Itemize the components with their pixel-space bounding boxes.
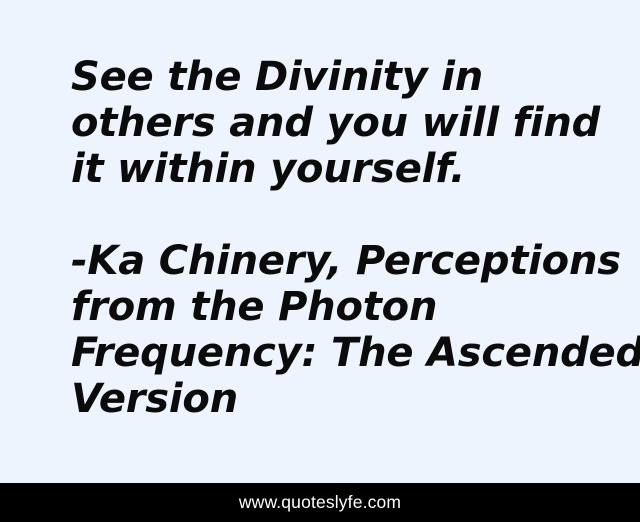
attribution-line: Version	[71, 376, 583, 422]
quote-content: See the Divinity in others and you will …	[71, 54, 583, 422]
quote-line: See the Divinity in	[71, 54, 583, 100]
site-url-label: www.quoteslyfe.com	[239, 494, 401, 512]
quote-card: See the Divinity in others and you will …	[0, 0, 640, 522]
quote-line: it within yourself.	[71, 146, 583, 192]
site-footer-bar: www.quoteslyfe.com	[0, 483, 640, 522]
attribution-line: -Ka Chinery, Perceptions	[71, 238, 583, 284]
quote-attribution: -Ka Chinery, Perceptions from the Photon…	[71, 238, 583, 422]
quote-text: See the Divinity in others and you will …	[71, 54, 583, 192]
quote-line: others and you will find	[71, 100, 583, 146]
attribution-line: from the Photon	[71, 284, 583, 330]
attribution-line: Frequency: The Ascended	[71, 330, 583, 376]
